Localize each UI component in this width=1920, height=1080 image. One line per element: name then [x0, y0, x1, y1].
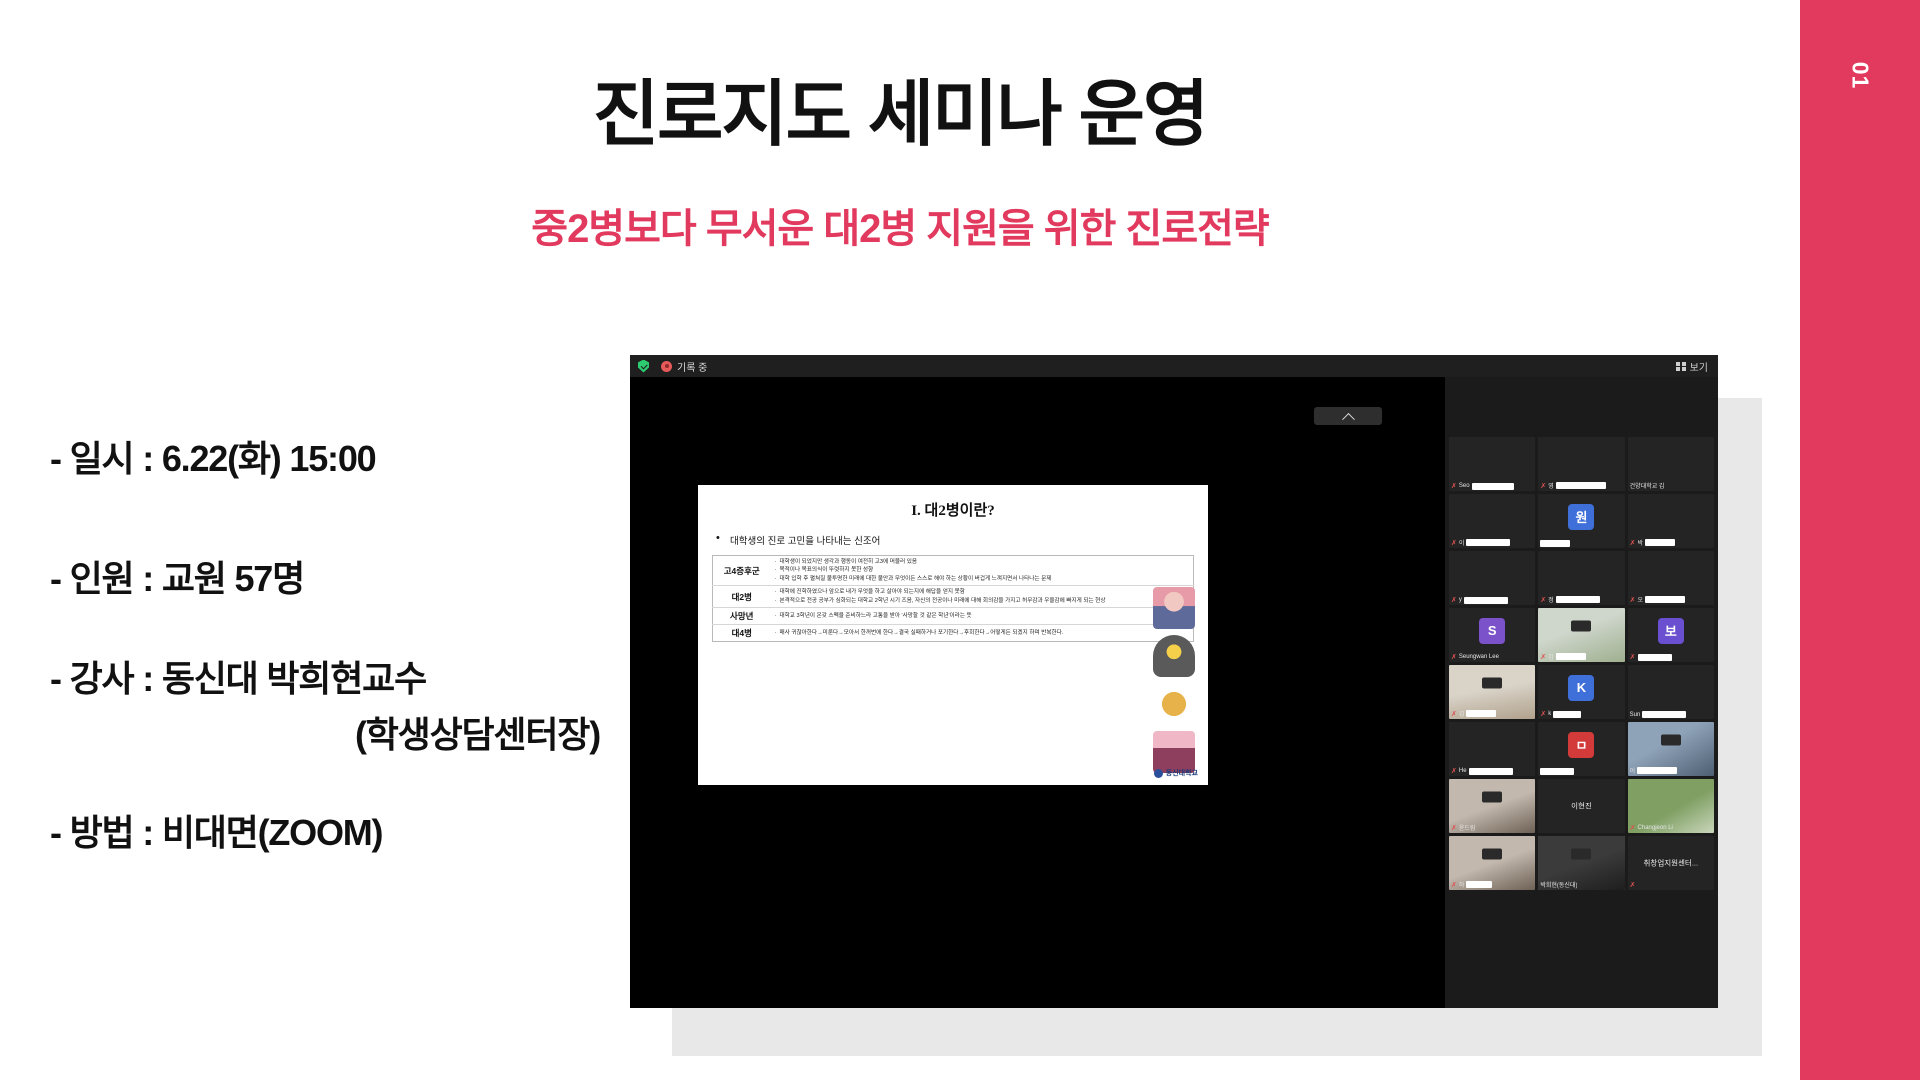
participant-tile[interactable]: ✗Changjeon Li [1628, 779, 1714, 833]
mic-off-icon: ✗ [1630, 824, 1636, 832]
mic-off-icon: ✗ [1630, 539, 1636, 547]
table-cell-desc: 대학교 3학년이 온갖 스펙을 준비하느라 고통을 받아 '사망할 것 같은 학… [771, 607, 1194, 624]
participant-name: 이 [1630, 766, 1636, 775]
page-subtitle: 중2병보다 무서운 대2병 지원을 위한 진로전략 [0, 196, 1800, 254]
list-item: - 인원 : 교원 57명 [50, 550, 610, 602]
illustration-icon [1153, 731, 1195, 773]
redaction-bar [1464, 597, 1508, 604]
participant-tile-active[interactable]: 박희현(동신대) [1538, 836, 1624, 890]
table-row: 대4병 매사 귀찮아한다→미룬다→모아서 한꺼번에 한다→결국 실패하거나 포기… [713, 624, 1194, 641]
collapse-toolbar[interactable] [1314, 407, 1382, 425]
table-row: 대2병 대학에 진학하였으나 앞으로 내가 무엇을 하고 살아야 되는지에 해답… [713, 586, 1194, 608]
redaction-bar [1553, 711, 1581, 718]
desc-line: 대학에 진학하였으나 앞으로 내가 무엇을 하고 살아야 되는지에 해답을 얻지… [774, 588, 1191, 596]
illustration-icon [1153, 635, 1195, 677]
mic-off-icon: ✗ [1451, 767, 1457, 775]
table-cell-term: 대2병 [713, 586, 771, 608]
redaction-bar [1637, 767, 1677, 774]
mic-off-icon: ✗ [1451, 539, 1457, 547]
table-cell-desc: 대학에 진학하였으나 앞으로 내가 무엇을 하고 살아야 되는지에 해답을 얻지… [771, 586, 1194, 608]
redaction-bar [1469, 768, 1513, 775]
participant-name: 김 [1548, 652, 1554, 661]
desc-line: 대학교 3학년이 온갖 스펙을 준비하느라 고통을 받아 '사망할 것 같은 학… [774, 612, 1191, 620]
participant-name: 박 [1638, 538, 1644, 547]
participant-name: 윤드림 [1459, 823, 1476, 832]
table-cell-desc: 매사 귀찮아한다→미룬다→모아서 한꺼번에 한다→결국 실패하거나 포기한다→후… [771, 624, 1194, 641]
participant-tile[interactable]: ✗영 [1538, 437, 1624, 491]
participant-name: 정 [1548, 595, 1554, 604]
participant-tile[interactable]: 이 [1628, 722, 1714, 776]
redaction-bar [1645, 539, 1675, 546]
illustration-icon [1153, 683, 1195, 725]
participant-row: ✗y ✗정 ✗오 [1449, 551, 1714, 605]
mic-off-icon: ✗ [1451, 653, 1457, 661]
face-redaction [1661, 735, 1681, 746]
table-cell-term: 사망년 [713, 607, 771, 624]
participant-name: 취창업지원센터... [1628, 858, 1714, 869]
participant-tile[interactable]: S✗Seungwan Lee [1449, 608, 1535, 662]
shared-slide-table: 고4증후군 대학생이 되었지만 생각과 행동이 여전히 고3에 머물러 있음 목… [712, 555, 1194, 642]
participant-tile[interactable]: 건양대학교 김 [1628, 437, 1714, 491]
mic-off-icon: ✗ [1451, 824, 1457, 832]
redaction-bar [1556, 482, 1606, 489]
table-cell-term: 고4증후군 [713, 556, 771, 586]
participant-name: k [1548, 711, 1551, 717]
desc-line: 대학 입학 후 펼쳐질 불투명한 미래에 대한 불안과 무엇이든 스스로 해야 … [774, 575, 1191, 583]
view-button[interactable]: 보기 [1676, 355, 1708, 377]
mic-off-icon: ✗ [1451, 710, 1457, 718]
avatar: 보 [1658, 618, 1684, 644]
face-redaction [1571, 849, 1591, 860]
participant-tile[interactable]: ✗Seo [1449, 437, 1535, 491]
avatar: ㅁ [1568, 732, 1594, 758]
participant-tile[interactable]: 이현진 [1538, 779, 1624, 833]
redaction-bar [1556, 653, 1586, 660]
list-item: - 방법 : 비대면(ZOOM) [50, 804, 610, 856]
redaction-bar [1638, 654, 1672, 661]
participant-tile[interactable]: ✗박 [1628, 494, 1714, 548]
mic-off-icon: ✗ [1630, 881, 1636, 889]
participant-tile[interactable]: ㅁ [1538, 722, 1624, 776]
participant-name: Seungwan Lee [1459, 654, 1499, 660]
redaction-bar [1466, 539, 1510, 546]
info-list: - 일시 : 6.22(화) 15:00 - 인원 : 교원 57명 - 강사 … [50, 430, 610, 856]
list-item: - 강사 : 동신대 박희현교수 [50, 650, 610, 702]
mic-off-icon: ✗ [1451, 596, 1457, 604]
participant-tile[interactable]: Sun [1628, 665, 1714, 719]
participant-tile[interactable]: ✗김 [1449, 665, 1535, 719]
table-cell-desc: 대학생이 되었지만 생각과 행동이 여전히 고3에 머물러 있음 목적이나 목표… [771, 556, 1194, 586]
participant-tile[interactable]: 취창업지원센터...✗ [1628, 836, 1714, 890]
participant-tile[interactable]: ✗김 [1538, 608, 1624, 662]
participant-row: S✗Seungwan Lee ✗김 보✗ [1449, 608, 1714, 662]
participant-row: ✗윤드림 이현진 ✗Changjeon Li [1449, 779, 1714, 833]
redaction-bar [1556, 596, 1600, 603]
participant-row: ✗하 박희현(동신대) 취창업지원센터...✗ [1449, 836, 1714, 890]
avatar: S [1479, 618, 1505, 644]
mic-off-icon: ✗ [1540, 653, 1546, 661]
shield-check-icon [638, 360, 649, 373]
participant-name: 김 [1459, 709, 1465, 718]
recording-status-label: 기록 중 [677, 359, 707, 374]
chevron-up-icon [1342, 412, 1355, 425]
list-item: - 일시 : 6.22(화) 15:00 [50, 430, 610, 482]
presentation-slide: 01 진로지도 세미나 운영 중2병보다 무서운 대2병 지원을 위한 진로전략… [0, 0, 1920, 1080]
redaction-bar [1472, 483, 1514, 490]
participant-tile[interactable]: ✗y [1449, 551, 1535, 605]
mic-off-icon: ✗ [1540, 482, 1546, 490]
participant-tile[interactable]: ✗He [1449, 722, 1535, 776]
participant-row: ✗He ㅁ 이 [1449, 722, 1714, 776]
mic-off-icon: ✗ [1451, 482, 1457, 490]
mic-off-icon: ✗ [1540, 710, 1546, 718]
view-button-label: 보기 [1690, 359, 1708, 374]
slide-accent-band: 01 [1800, 0, 1920, 1080]
participant-tile[interactable]: ✗하 [1449, 836, 1535, 890]
shared-screen-stage: I. 대2병이란? 대학생의 진로 고민을 나타내는 신조어 고4증후군 대학생… [630, 377, 1445, 1008]
shared-slide-bullet: 대학생의 진로 고민을 나타내는 신조어 [716, 533, 1208, 547]
participant-row: ✗Seo ✗영 건양대학교 김 [1449, 437, 1714, 491]
participant-row: ✗김 K✗k Sun [1449, 665, 1714, 719]
participant-tile[interactable]: ✗정 [1538, 551, 1624, 605]
university-logo: 동신대학교 [1154, 768, 1198, 778]
slide-number: 01 [1847, 62, 1874, 90]
participant-name: He [1459, 768, 1467, 774]
face-redaction [1482, 849, 1502, 860]
participant-tile[interactable]: ✗오 [1628, 551, 1714, 605]
avatar: 원 [1568, 504, 1594, 530]
redaction-bar [1540, 540, 1570, 547]
participant-gallery[interactable]: ✗Seo ✗영 건양대학교 김 ✗이 원 ✗박 ✗y ✗정 ✗오 S✗Seung… [1445, 377, 1718, 1008]
face-redaction [1571, 621, 1591, 632]
participant-name: 건양대학교 김 [1630, 481, 1665, 490]
mic-off-icon: ✗ [1451, 881, 1457, 889]
participant-name: 오 [1638, 595, 1644, 604]
redaction-bar [1466, 881, 1492, 888]
participant-name: Changjeon Li [1638, 825, 1673, 831]
mic-off-icon: ✗ [1630, 596, 1636, 604]
participant-name: 이현진 [1538, 801, 1624, 812]
redaction-bar [1642, 711, 1686, 718]
face-redaction [1482, 792, 1502, 803]
participant-row: ✗이 원 ✗박 [1449, 494, 1714, 548]
mic-off-icon: ✗ [1540, 596, 1546, 604]
participant-tile[interactable]: 원 [1538, 494, 1624, 548]
desc-line: 대학생이 되었지만 생각과 행동이 여전히 고3에 머물러 있음 [774, 558, 1191, 566]
page-title: 진로지도 세미나 운영 [0, 78, 1800, 154]
table-row: 고4증후군 대학생이 되었지만 생각과 행동이 여전히 고3에 머물러 있음 목… [713, 556, 1194, 586]
desc-line: 목적이나 목표의식이 뚜렷하지 못한 성향 [774, 566, 1191, 574]
logo-mark-icon [1154, 769, 1163, 778]
illustration-icon [1153, 587, 1195, 629]
avatar: K [1568, 675, 1594, 701]
grid-icon [1676, 362, 1686, 371]
participant-name: y [1459, 597, 1462, 603]
participant-tile[interactable]: ✗윤드림 [1449, 779, 1535, 833]
redaction-bar [1540, 768, 1574, 775]
participant-tile[interactable]: 보✗ [1628, 608, 1714, 662]
redaction-bar [1645, 596, 1685, 603]
shared-slide-title: I. 대2병이란? [698, 499, 1208, 520]
participant-tile[interactable]: ✗이 [1449, 494, 1535, 548]
zoom-meeting-screenshot: 기록 중 보기 I. 대2병이란? 대학생의 진로 고민을 나타내는 신조어 고… [630, 355, 1718, 1008]
record-dot-icon [661, 361, 672, 372]
participant-tile[interactable]: K✗k [1538, 665, 1624, 719]
participant-name: 이 [1459, 538, 1465, 547]
table-row: 사망년 대학교 3학년이 온갖 스펙을 준비하느라 고통을 받아 '사망할 것 … [713, 607, 1194, 624]
list-item-sub: (학생상담센터장) [50, 706, 610, 758]
logo-text: 동신대학교 [1166, 768, 1198, 778]
participant-name: 박희현(동신대) [1540, 880, 1577, 889]
face-redaction [1482, 678, 1502, 689]
slide-illustrations [1144, 581, 1204, 779]
desc-line: 본격적으로 전공 공부가 심화되는 대학교 2학년 시기 즈음, 자신의 전공이… [774, 597, 1191, 605]
table-cell-term: 대4병 [713, 624, 771, 641]
shared-slide: I. 대2병이란? 대학생의 진로 고민을 나타내는 신조어 고4증후군 대학생… [698, 485, 1208, 785]
participant-name: 하 [1459, 880, 1465, 889]
redaction-bar [1466, 710, 1496, 717]
zoom-top-bar: 기록 중 보기 [630, 355, 1718, 377]
mic-off-icon: ✗ [1630, 653, 1636, 661]
participant-name: Seo [1459, 483, 1470, 489]
desc-line: 매사 귀찮아한다→미룬다→모아서 한꺼번에 한다→결국 실패하거나 포기한다→후… [774, 629, 1191, 637]
participant-name: 영 [1548, 481, 1554, 490]
participant-name: Sun [1630, 712, 1641, 718]
